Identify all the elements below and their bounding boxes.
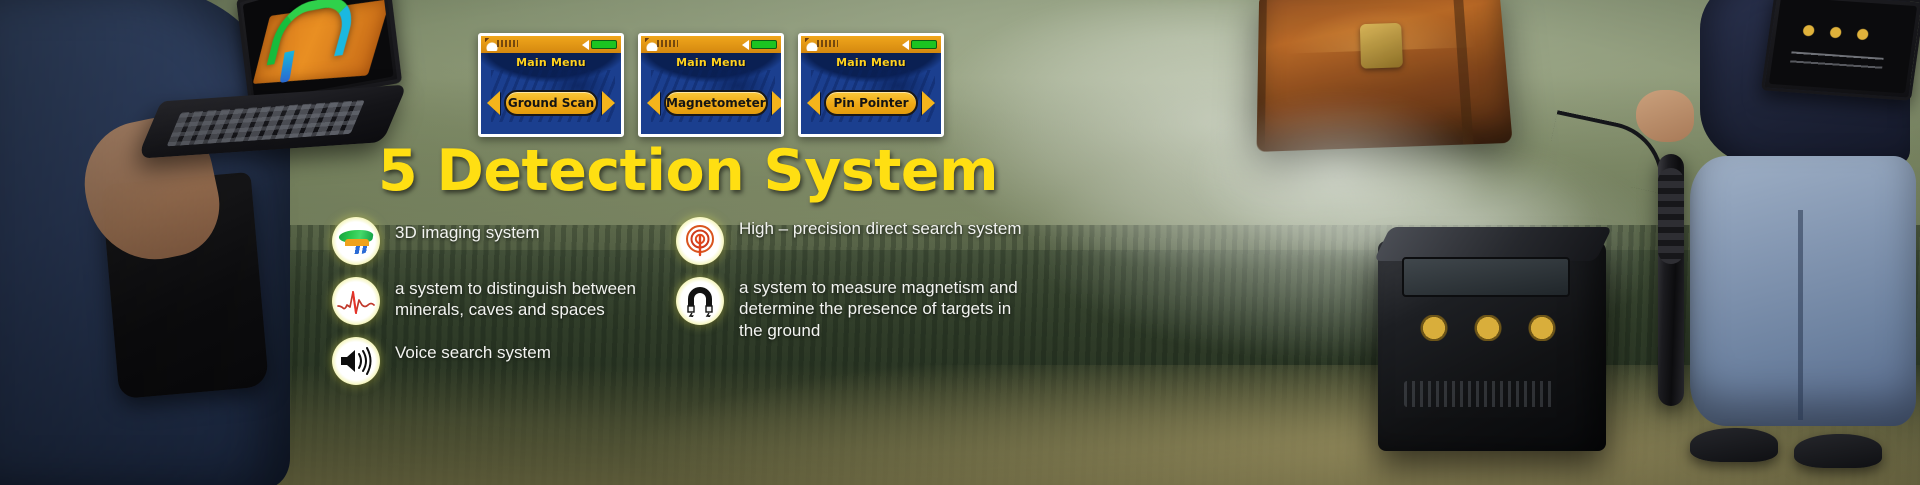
feature-label: Voice search system [395,337,551,363]
battery-level-bar [591,40,617,49]
card-title: Main Menu [641,56,781,69]
tablet-indicator-lights [1798,24,1874,41]
device-card-ground-scan[interactable]: Main Menu Ground Scan [478,33,624,137]
right-person-shoe-left [1690,428,1778,462]
laptop-keys [166,100,365,147]
tablet-screen [1769,0,1917,93]
device-card-magnetometer[interactable]: Main Menu Magnetometer [638,33,784,137]
feature-item-3d-imaging: 3D imaging system [332,217,662,265]
feature-list-left: 3D imaging system a system to distinguis… [332,217,662,397]
handheld-tablet-device [1761,0,1920,101]
battery-full-icon [582,40,617,50]
device-card-pin-pointer[interactable]: Main Menu Pin Pointer [798,33,944,137]
feature-label: 3D imaging system [395,217,540,243]
feature-item-magnetism: a system to measure magnetism and determ… [676,277,1036,341]
feature-label: High – precision direct search system [739,217,1022,239]
arrow-right-icon[interactable] [772,91,784,115]
device-menu-cards: Main Menu Ground Scan Main Menu Magnetom… [478,33,944,137]
card-title: Main Menu [481,56,621,69]
horseshoe-magnet-glyph [685,285,715,317]
battery-full-icon [902,40,937,50]
brand-logo-icon [805,38,839,51]
probe-grip [1658,168,1684,264]
card-mode-selector[interactable]: Pin Pointer [807,90,935,116]
detector-knobs [1418,315,1558,341]
radar-target-glyph [683,224,717,258]
feature-label: a system to measure magnetism and determ… [739,277,1036,341]
card-status-bar [481,36,621,53]
speaker-sound-icon [332,337,380,385]
horseshoe-magnet-icon [676,277,724,325]
detector-vent [1404,381,1554,407]
banner-stage: Main Menu Ground Scan Main Menu Magnetom… [0,0,1920,485]
card-mode-button[interactable]: Magnetometer [664,90,768,116]
card-mode-selector[interactable]: Ground Scan [487,90,615,116]
arrow-left-icon[interactable] [647,91,660,115]
speaker-sound-glyph [338,347,374,375]
card-status-bar [641,36,781,53]
brand-logo-icon [645,38,679,51]
detector-control-unit [1378,241,1606,451]
battery-level-bar [911,40,937,49]
arrow-left-icon[interactable] [807,91,820,115]
brand-logo-icon [485,38,519,51]
card-mode-selector[interactable]: Magnetometer [647,90,775,116]
tablet-screen-lines [1788,51,1884,83]
feature-label: a system to distinguish between minerals… [395,277,662,321]
speaker-mini-icon [742,40,749,50]
feature-item-high-precision: High – precision direct search system [676,217,1036,265]
chest-lock-icon [1360,23,1403,69]
card-mode-button[interactable]: Ground Scan [504,90,598,116]
right-person-hand [1636,90,1694,142]
card-status-bar [801,36,941,53]
waveform-pulse-glyph [337,286,375,316]
arrow-left-icon[interactable] [487,91,500,115]
right-person-shoe-right [1794,434,1882,468]
radar-target-icon [676,217,724,265]
feature-item-mineral-distinguish: a system to distinguish between minerals… [332,277,662,325]
arrow-right-icon[interactable] [922,91,935,115]
page-title: 5 Detection System [378,142,998,200]
feature-list-right: High – precision direct search system a … [676,217,1036,353]
waveform-pulse-icon [332,277,380,325]
card-title: Main Menu [801,56,941,69]
feature-item-voice-search: Voice search system [332,337,662,385]
speaker-mini-icon [582,40,589,50]
right-person-jeans [1690,156,1916,426]
battery-full-icon [742,40,777,50]
battery-level-bar [751,40,777,49]
detector-top-panel [1374,227,1613,261]
arrow-right-icon[interactable] [602,91,615,115]
card-mode-button[interactable]: Pin Pointer [824,90,918,116]
3d-terrain-icon [332,217,380,265]
detector-display [1402,257,1570,297]
speaker-mini-icon [902,40,909,50]
